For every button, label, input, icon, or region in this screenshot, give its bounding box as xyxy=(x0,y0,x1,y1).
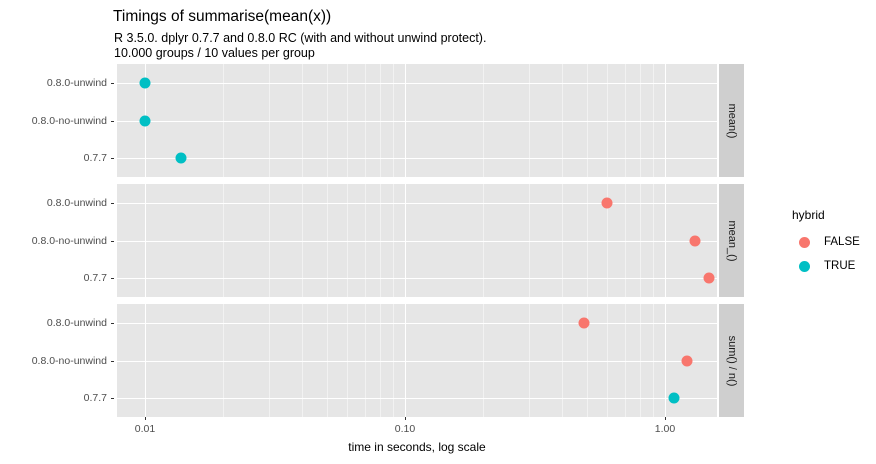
facet-strip-label: mean_() xyxy=(726,220,738,261)
data-point xyxy=(602,197,613,208)
legend-item[interactable]: FALSE xyxy=(792,230,876,254)
y-axis-tick-mark xyxy=(111,83,114,84)
gridline-major-horizontal xyxy=(117,278,717,279)
data-point xyxy=(682,355,693,366)
facet-strip: mean() xyxy=(719,64,744,177)
data-point xyxy=(140,115,151,126)
facet-panel: mean() xyxy=(117,64,744,177)
panel-background xyxy=(117,184,717,297)
y-axis-tick-label: 0.8.0-unwind xyxy=(47,317,107,329)
facet-strip-label: mean() xyxy=(726,103,738,138)
legend-key-swatch xyxy=(792,230,816,254)
y-axis-tick-mark xyxy=(111,203,114,204)
y-axis-tick-label: 0.8.0-unwind xyxy=(47,77,107,89)
y-axis-tick-label: 0.7.7 xyxy=(84,152,107,164)
page-title: Timings of summarise(mean(x)) xyxy=(113,8,331,26)
y-axis-tick-label: 0.8.0-unwind xyxy=(47,197,107,209)
chart-subtitle-line-1: R 3.5.0. dplyr 0.7.7 and 0.8.0 RC (with … xyxy=(114,30,486,46)
facet-strip: mean_() xyxy=(719,184,744,297)
y-axis-tick-mark xyxy=(111,158,114,159)
x-axis-tick-label: 0.01 xyxy=(135,423,155,435)
gridline-major-horizontal xyxy=(117,323,717,324)
gridline-major-horizontal xyxy=(117,241,717,242)
data-point xyxy=(689,235,700,246)
panel-background xyxy=(117,304,717,417)
legend-item-label: TRUE xyxy=(824,260,855,272)
legend-dot-icon xyxy=(799,261,810,272)
y-axis-tick-label: 0.8.0-no-unwind xyxy=(32,115,107,127)
data-point xyxy=(579,317,590,328)
x-axis-tick-mark xyxy=(665,417,666,420)
facet-panel: mean_() xyxy=(117,184,744,297)
chart-subtitle-line-2: 10.000 groups / 10 values per group xyxy=(114,46,315,60)
y-axis-tick-label: 0.8.0-no-unwind xyxy=(32,355,107,367)
data-point xyxy=(668,393,679,404)
gridline-major-horizontal xyxy=(117,361,717,362)
gridline-major-horizontal xyxy=(117,121,717,122)
y-axis-tick-label: 0.7.7 xyxy=(84,272,107,284)
gridline-major-horizontal xyxy=(117,203,717,204)
plot-panels: mean()mean_()sum() / n() xyxy=(117,64,744,417)
x-axis: 0.010.101.00 xyxy=(117,417,717,437)
legend-items: FALSETRUE xyxy=(792,230,876,278)
y-axis-tick-mark xyxy=(111,361,114,362)
facet-strip: sum() / n() xyxy=(719,304,744,417)
legend-item-label: FALSE xyxy=(824,236,860,248)
y-axis-tick-label: 0.8.0-no-unwind xyxy=(32,235,107,247)
legend-key-swatch xyxy=(792,254,816,278)
y-axis-tick-label: 0.7.7 xyxy=(84,392,107,404)
gridline-major-horizontal xyxy=(117,83,717,84)
panel-background xyxy=(117,64,717,177)
y-axis-tick-mark xyxy=(111,121,114,122)
y-axis-tick-mark xyxy=(111,278,114,279)
x-axis-title: time in seconds, log scale xyxy=(117,440,717,454)
x-axis-tick-mark xyxy=(145,417,146,420)
chart-root: Timings of summarise(mean(x)) R 3.5.0. d… xyxy=(0,0,876,464)
legend-dot-icon xyxy=(799,237,810,248)
facet-panel: sum() / n() xyxy=(117,304,744,417)
x-axis-tick-label: 1.00 xyxy=(655,423,675,435)
data-point xyxy=(140,77,151,88)
data-point xyxy=(703,273,714,284)
y-axis-labels: 0.7.70.8.0-no-unwind0.8.0-unwind0.7.70.8… xyxy=(0,0,107,464)
legend-item[interactable]: TRUE xyxy=(792,254,876,278)
x-axis-tick-mark xyxy=(405,417,406,420)
y-axis-tick-mark xyxy=(111,398,114,399)
gridline-major-horizontal xyxy=(117,398,717,399)
legend: hybrid FALSETRUE xyxy=(792,208,876,278)
x-axis-tick-label: 0.10 xyxy=(395,423,415,435)
legend-title: hybrid xyxy=(792,208,876,222)
gridline-major-horizontal xyxy=(117,158,717,159)
y-axis-tick-mark xyxy=(111,241,114,242)
data-point xyxy=(176,153,187,164)
facet-strip-label: sum() / n() xyxy=(726,335,738,386)
y-axis-tick-mark xyxy=(111,323,114,324)
